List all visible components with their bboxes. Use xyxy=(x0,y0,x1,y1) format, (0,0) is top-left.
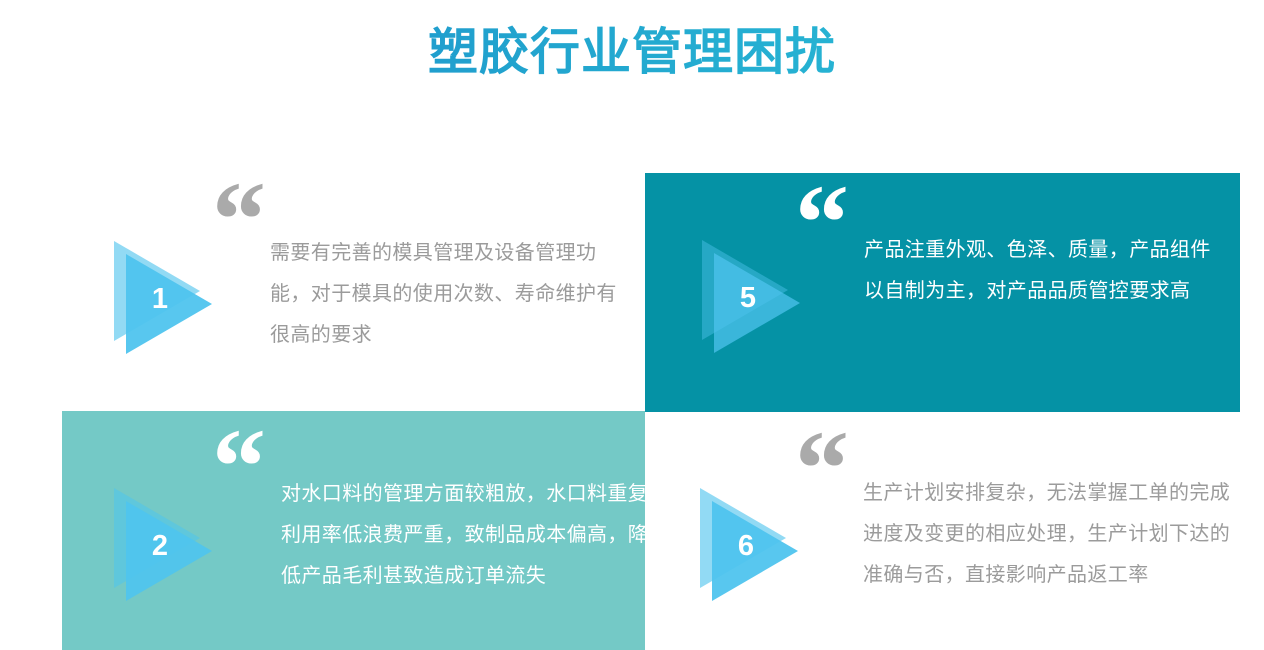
quote-mark-icon: “ xyxy=(795,416,847,524)
page-title: 塑胶行业管理困扰 xyxy=(0,20,1264,84)
marker-1: 1 xyxy=(114,241,226,353)
marker-number-label: 5 xyxy=(726,276,770,320)
panel-body-text: 产品注重外观、色泽、质量，产品组件以自制为主，对产品品质管控要求高 xyxy=(864,230,1224,312)
marker-number-label: 6 xyxy=(724,524,768,568)
info-panel-2: 2 “ 对水口料的管理方面较粗放，水口料重复利用率低浪费严重，致制品成本偏高，降… xyxy=(62,411,645,650)
marker-number-label: 2 xyxy=(138,524,182,568)
info-panel-1: 1 “ 需要有完善的模具管理及设备管理功能，对于模具的使用次数、寿命维护有很高的… xyxy=(100,173,645,411)
marker-2: 2 xyxy=(114,488,226,600)
info-panel-6: 6 “ 生产计划安排复杂，无法掌握工单的完成进度及变更的相应处理，生产计划下达的… xyxy=(690,411,1250,650)
quote-mark-icon: “ xyxy=(212,167,264,275)
panel-body-text: 生产计划安排复杂，无法掌握工单的完成进度及变更的相应处理，生产计划下达的准确与否… xyxy=(863,473,1238,596)
info-panel-5: 5 “ 产品注重外观、色泽、质量，产品组件以自制为主，对产品品质管控要求高 xyxy=(645,173,1240,412)
quote-mark-icon: “ xyxy=(795,170,847,278)
quote-mark-icon: “ xyxy=(212,414,264,522)
panel-body-text: 需要有完善的模具管理及设备管理功能，对于模具的使用次数、寿命维护有很高的要求 xyxy=(270,233,635,356)
panel-body-text: 对水口料的管理方面较粗放，水口料重复利用率低浪费严重，致制品成本偏高，降低产品毛… xyxy=(281,474,649,597)
marker-number-label: 1 xyxy=(138,277,182,321)
